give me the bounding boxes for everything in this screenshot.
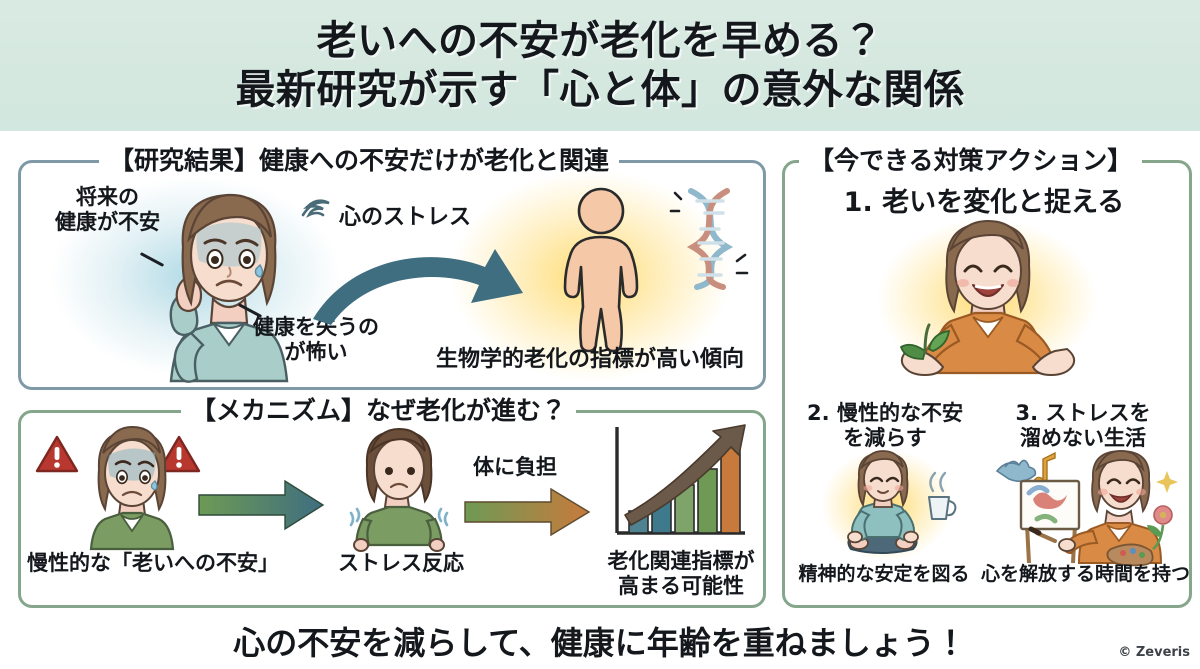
rising-bar-chart-icon (603, 421, 753, 549)
label-biological-aging-outcome: 生物学的老化の指標が高い傾向 (425, 347, 755, 373)
action-1-heading: 1. 老いを変化と捉える (785, 187, 1183, 219)
footer-message: 心の不安を減らして、健康に年齢を重ねましょう！ (233, 618, 966, 664)
label-chronic-aging-anxiety: 慢性的な「老いへの不安」 (27, 551, 247, 576)
meditating-woman-illustration (837, 451, 957, 563)
dizzy-swirl-icon (297, 193, 337, 233)
copyright-credit: © Zeveris (1118, 645, 1190, 660)
page-title-line-2: 最新研究が示す「心と体」の意外な関係 (236, 68, 965, 113)
human-body-silhouette-icon (541, 187, 661, 353)
panel-action-items: 【今できる対策アクション】 1. 老いを変化と捉える (782, 160, 1192, 608)
bar-4 (698, 469, 717, 533)
painting-woman-illustration (991, 449, 1177, 565)
mechanism-arrow-2-icon (463, 487, 591, 537)
action-3-caption: 心を解放する時間を持つ (981, 563, 1185, 586)
header-band: 老いへの不安が老化を早める？ 最新研究が示す「心と体」の意外な関係 (0, 0, 1200, 131)
trembling-woman-illustration (341, 427, 457, 551)
panel-research-results: 【研究結果】健康への不安だけが老化と関連 (18, 160, 766, 390)
infographic-root: 老いへの不安が老化を早める？ 最新研究が示す「心と体」の意外な関係 【研究結果】… (0, 0, 1200, 669)
panel-research-results-title: 【研究結果】健康への不安だけが老化と関連 (99, 148, 619, 173)
footer-band: 心の不安を減らして、健康に年齢を重ねましょう！ (0, 612, 1200, 669)
page-title-line-1: 老いへの不安が老化を早める？ (317, 19, 884, 64)
action-3-heading: 3. ストレスを 溜めない生活 (983, 401, 1183, 451)
label-future-health-anxiety: 将来の 健康が不安 (55, 185, 160, 235)
label-stress-response: ストレス反応 (331, 551, 471, 576)
mechanism-arrow-1-icon (197, 479, 325, 531)
panel-action-items-title: 【今できる対策アクション】 (799, 148, 1142, 173)
action-2-caption: 精神的な安定を図る (785, 563, 983, 586)
panel-mechanism: 【メカニズム】なぜ老化が進む？ (18, 410, 766, 608)
label-body-burden: 体に負担 (473, 455, 557, 480)
label-mind-stress: 心のストレス (339, 205, 471, 231)
panel-mechanism-title: 【メカニズム】なぜ老化が進む？ (181, 398, 576, 423)
smiling-woman-with-sprout-illustration (895, 221, 1081, 377)
stressed-woman-illustration (69, 425, 195, 549)
dna-helix-icon (675, 185, 747, 291)
action-2-heading: 2. 慢性的な不安 を減らす (787, 401, 983, 451)
label-aging-index-rise: 老化関連指標が 高まる可能性 (597, 549, 765, 599)
stress-curved-arrow-icon (309, 237, 545, 329)
